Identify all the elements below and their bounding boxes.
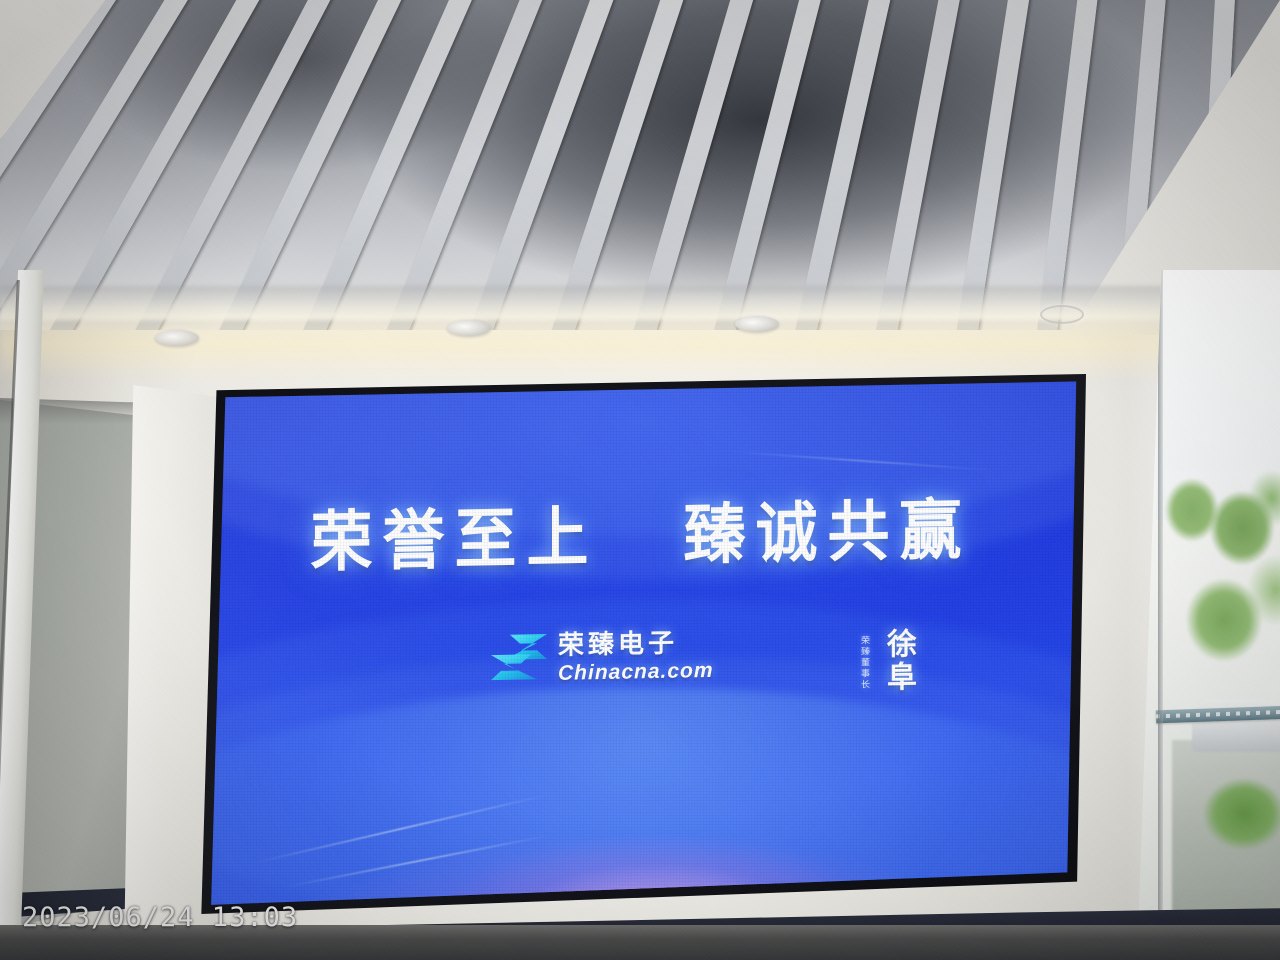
downlight-icon — [155, 330, 199, 346]
screen-slogan: 荣誉至上 臻诚共赢 — [196, 473, 1086, 585]
signature-block: 荣臻董事长 徐阜 — [859, 627, 920, 694]
window-shrub — [1198, 770, 1280, 860]
ceiling-slat-group — [0, 0, 1280, 330]
photo-timestamp: 2023/06/24 13:03 — [22, 902, 298, 933]
brand-name-cn: 荣臻电子 — [558, 628, 714, 657]
brand-name-en: Chinacna.com — [558, 659, 714, 683]
slogan-gap — [624, 558, 658, 559]
brand-lockup: 荣臻电子 Chinacna.com — [490, 628, 714, 684]
brand-text: 荣臻电子 Chinacna.com — [558, 628, 714, 683]
window-trees — [1164, 470, 1280, 720]
downlight-icon — [735, 316, 779, 332]
chevron-z-logo-icon — [490, 632, 548, 685]
downlight-icon — [447, 320, 491, 336]
slat-ceiling — [0, 0, 1280, 330]
slogan-right: 臻诚共赢 — [684, 495, 972, 573]
screen-surface[interactable]: 荣誉至上 臻诚共赢 — [196, 374, 1086, 914]
led-display[interactable]: 荣誉至上 臻诚共赢 — [196, 374, 1086, 914]
signature-title: 荣臻董事长 — [859, 635, 872, 690]
signature-name: 徐阜 — [876, 627, 920, 694]
downlight-icon — [1040, 305, 1084, 324]
window-mullion — [1158, 270, 1163, 960]
photo-canvas: 荣誉至上 臻诚共赢 — [0, 0, 1280, 960]
slogan-left: 荣誉至上 — [310, 502, 598, 580]
